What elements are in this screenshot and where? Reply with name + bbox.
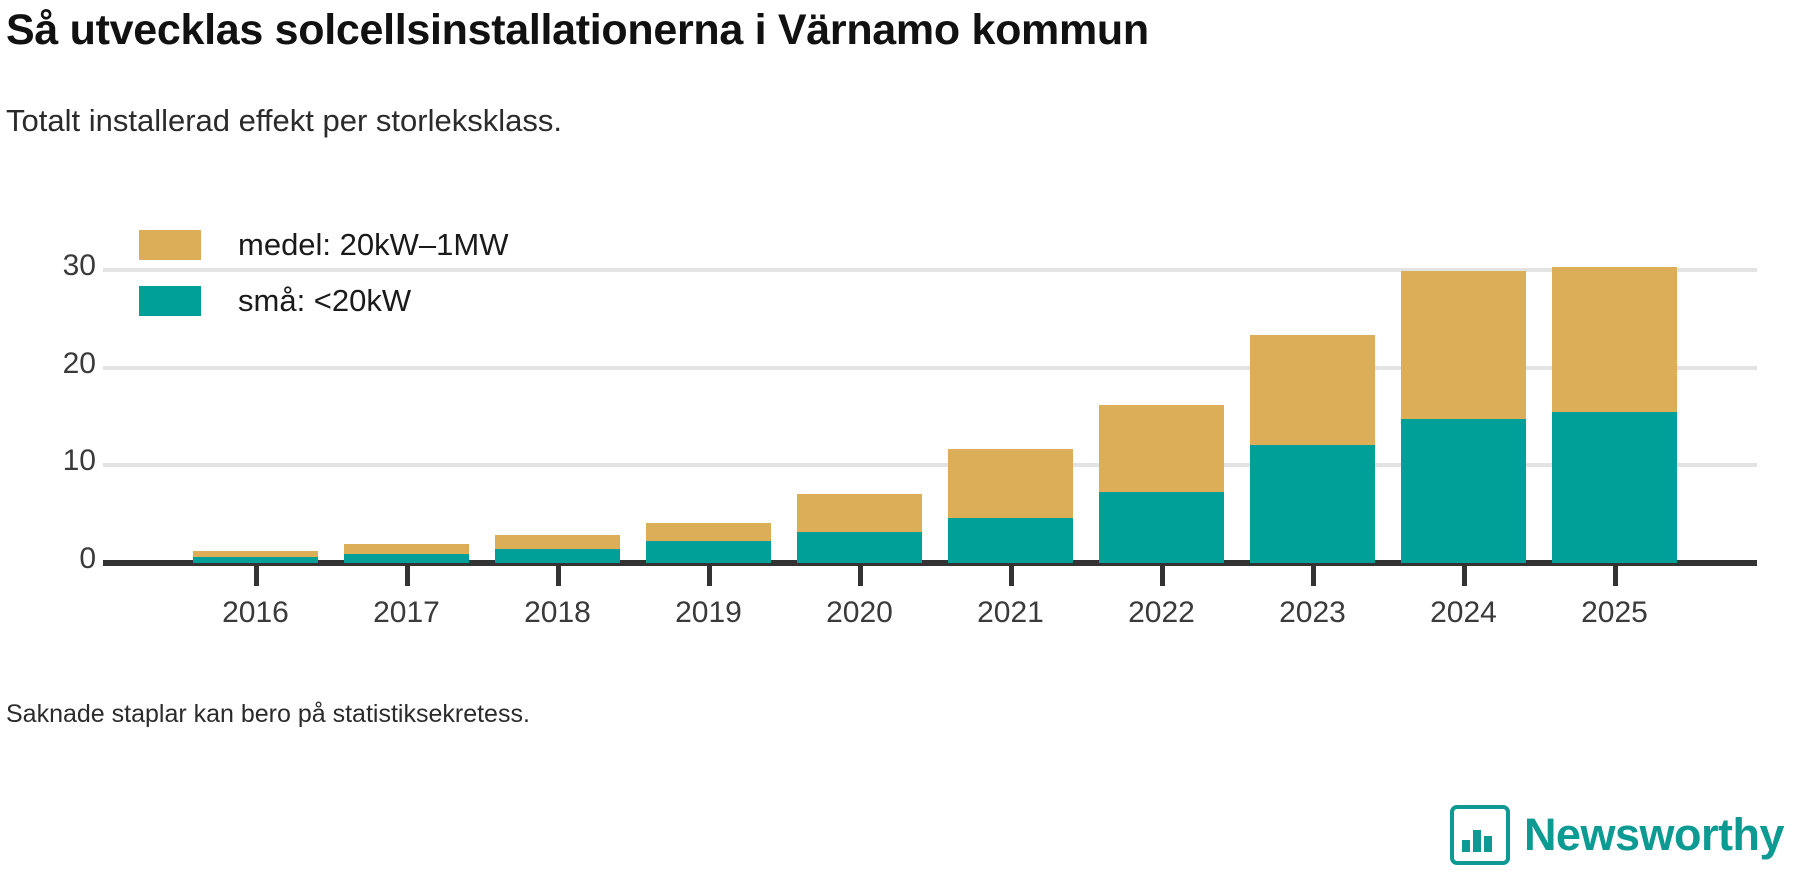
chart-page: Så utvecklas solcellsinstallationerna i … xyxy=(0,0,1800,879)
x-axis-tick-label-2018: 2018 xyxy=(478,596,638,630)
legend-item-sma[interactable]: små: <20kW xyxy=(139,278,508,324)
x-axis-tick-label-2021: 2021 xyxy=(931,596,1091,630)
bar-segment-medel[interactable] xyxy=(495,535,620,550)
brand-logo[interactable]: Newsworthy xyxy=(1450,805,1784,865)
x-axis-tick-label-2023: 2023 xyxy=(1233,596,1393,630)
bar-segment-sma[interactable] xyxy=(948,518,1073,563)
legend-label-sma: små: <20kW xyxy=(238,283,411,319)
plot-area: 0102030201620172018201920202021202220232… xyxy=(0,0,1800,879)
x-axis-tick xyxy=(858,566,863,586)
x-axis-tick xyxy=(707,566,712,586)
x-axis-tick-label-2020: 2020 xyxy=(780,596,940,630)
chart-legend: medel: 20kW–1MW små: <20kW xyxy=(139,222,508,334)
x-axis-tick xyxy=(254,566,259,586)
bar-stack-2017[interactable] xyxy=(344,544,469,563)
bar-segment-medel[interactable] xyxy=(1401,271,1526,420)
legend-swatch-medel xyxy=(139,230,201,260)
x-axis-tick-label-2025: 2025 xyxy=(1535,596,1695,630)
x-axis-tick-label-2017: 2017 xyxy=(327,596,487,630)
bar-chart-logo-icon xyxy=(1450,805,1510,865)
y-axis-tick-label: 20 xyxy=(0,347,96,381)
bar-segment-medel[interactable] xyxy=(1099,405,1224,492)
x-axis-tick xyxy=(1160,566,1165,586)
bar-stack-2021[interactable] xyxy=(948,449,1073,563)
bar-segment-sma[interactable] xyxy=(495,549,620,563)
bar-segment-medel[interactable] xyxy=(344,544,469,554)
x-axis-tick-label-2022: 2022 xyxy=(1082,596,1242,630)
x-axis-tick xyxy=(1462,566,1467,586)
x-axis-tick-label-2016: 2016 xyxy=(176,596,336,630)
bar-segment-sma[interactable] xyxy=(646,541,771,563)
bar-stack-2016[interactable] xyxy=(193,551,318,563)
bar-stack-2024[interactable] xyxy=(1401,271,1526,563)
x-axis-tick xyxy=(556,566,561,586)
bar-segment-medel[interactable] xyxy=(646,523,771,541)
bar-stack-2022[interactable] xyxy=(1099,405,1224,563)
x-axis-tick xyxy=(1311,566,1316,586)
y-axis-tick-label: 0 xyxy=(0,542,96,576)
bar-stack-2023[interactable] xyxy=(1250,335,1375,563)
x-axis-tick xyxy=(1613,566,1618,586)
legend-swatch-sma xyxy=(139,286,201,316)
bar-segment-medel[interactable] xyxy=(948,449,1073,518)
bar-segment-medel[interactable] xyxy=(1552,267,1677,412)
x-axis-tick-label-2019: 2019 xyxy=(629,596,789,630)
bar-segment-medel[interactable] xyxy=(1250,335,1375,444)
bar-segment-sma[interactable] xyxy=(1099,492,1224,563)
x-axis-tick-label-2024: 2024 xyxy=(1384,596,1544,630)
bar-segment-sma[interactable] xyxy=(1401,419,1526,563)
x-axis-tick xyxy=(1009,566,1014,586)
bar-stack-2025[interactable] xyxy=(1552,267,1677,563)
y-axis-tick-label: 30 xyxy=(0,249,96,283)
bar-segment-sma[interactable] xyxy=(797,532,922,563)
brand-name: Newsworthy xyxy=(1524,809,1784,861)
bar-segment-sma[interactable] xyxy=(193,557,318,563)
chart-footnote: Saknade staplar kan bero på statistiksek… xyxy=(6,700,530,729)
bar-segment-sma[interactable] xyxy=(344,554,469,563)
bar-segment-medel[interactable] xyxy=(797,494,922,532)
legend-label-medel: medel: 20kW–1MW xyxy=(238,227,508,263)
legend-item-medel[interactable]: medel: 20kW–1MW xyxy=(139,222,508,268)
bar-segment-sma[interactable] xyxy=(1250,445,1375,563)
bar-stack-2020[interactable] xyxy=(797,494,922,563)
bar-stack-2018[interactable] xyxy=(495,535,620,563)
bar-segment-sma[interactable] xyxy=(1552,412,1677,563)
x-axis-tick xyxy=(405,566,410,586)
y-axis-tick-label: 10 xyxy=(0,444,96,478)
bar-stack-2019[interactable] xyxy=(646,523,771,563)
